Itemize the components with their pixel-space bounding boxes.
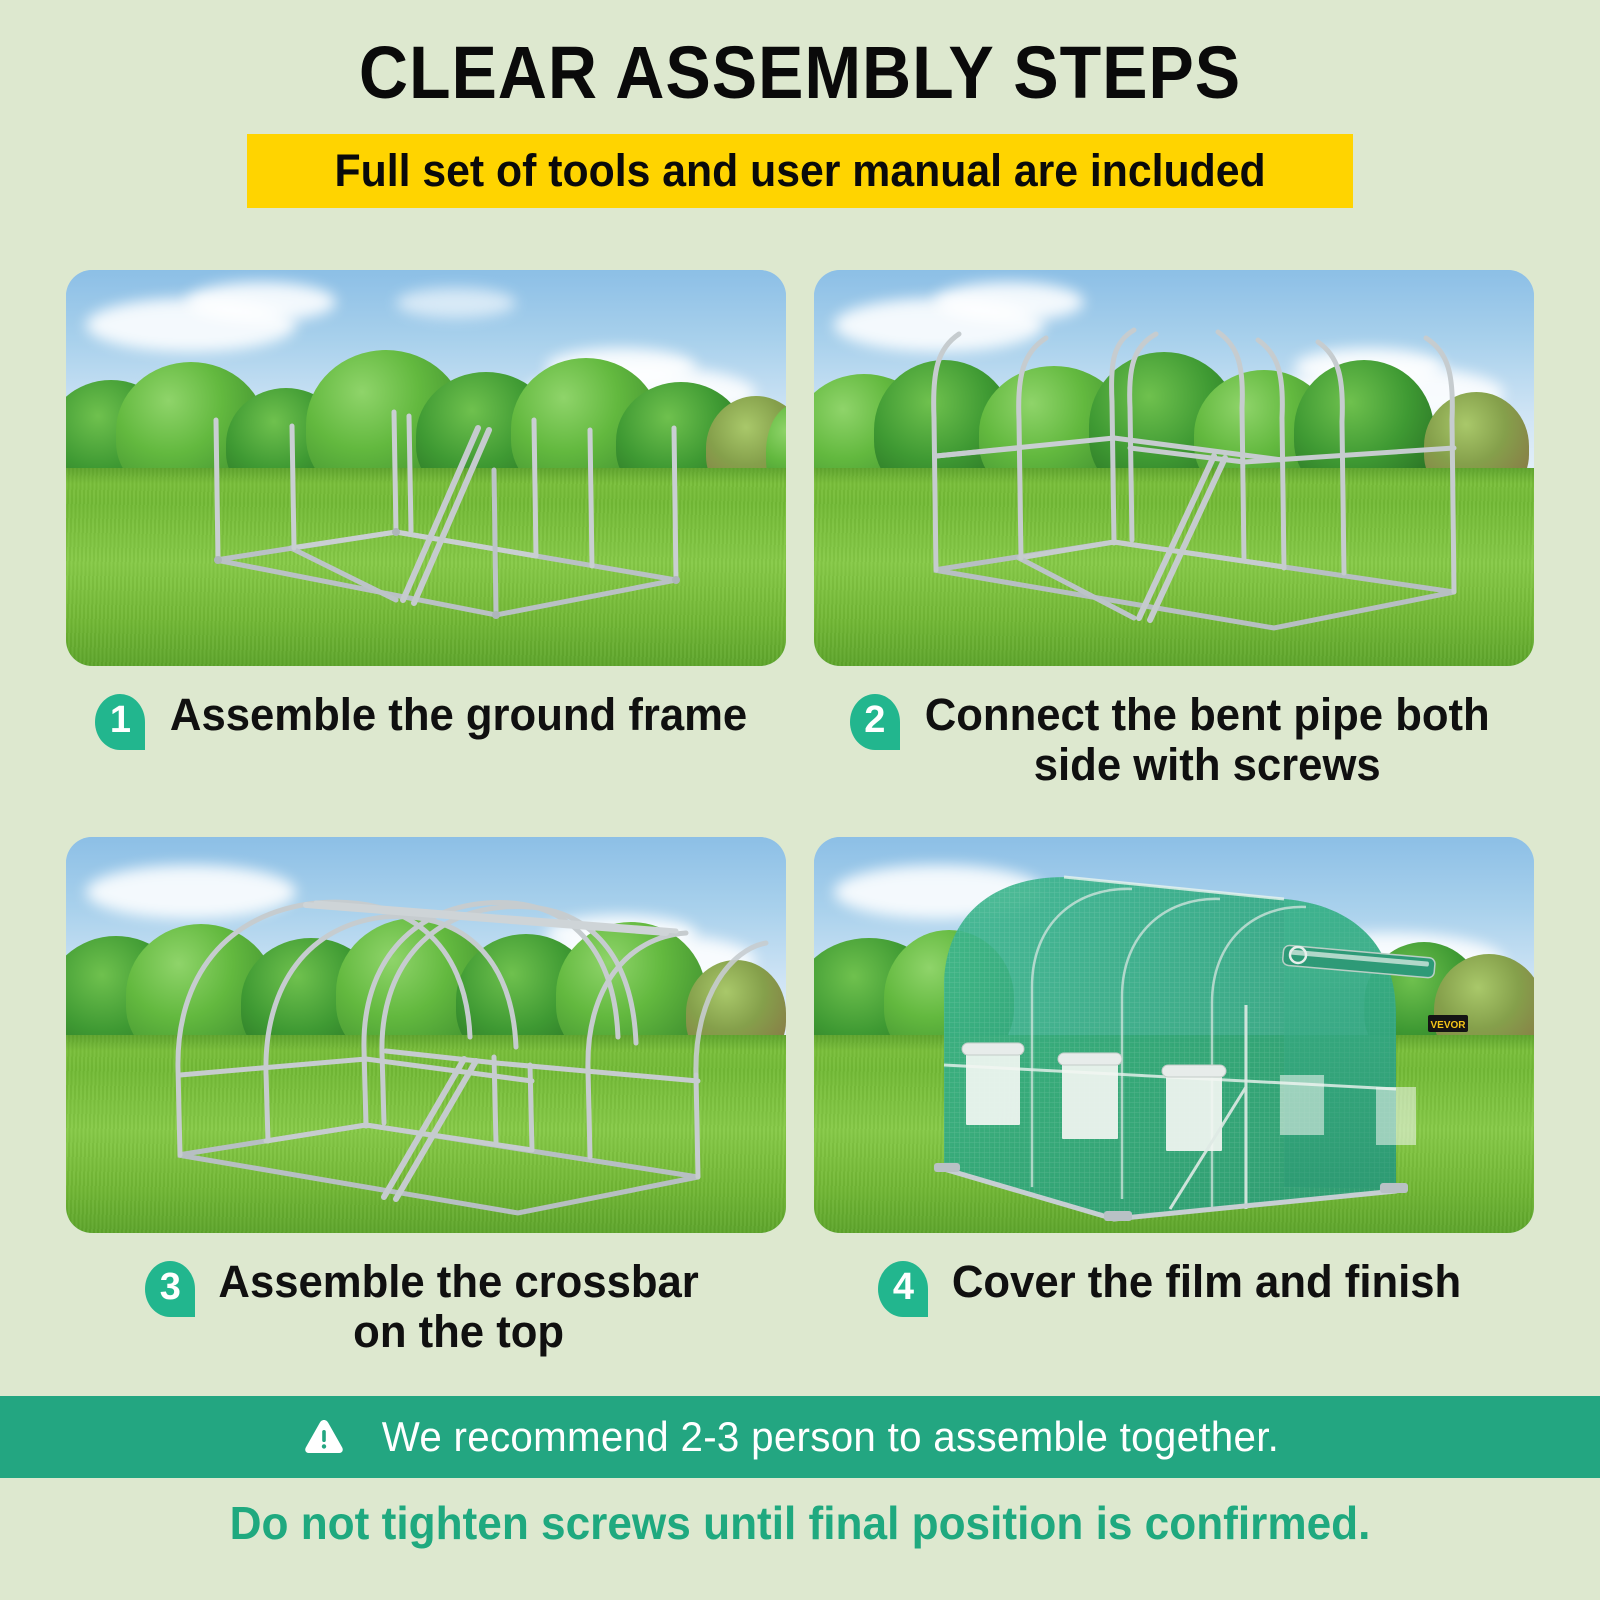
step-badge-3: 3 bbox=[145, 1261, 195, 1317]
recommendation-band: We recommend 2-3 person to assemble toge… bbox=[0, 1396, 1600, 1478]
warning-triangle-icon bbox=[303, 1417, 345, 1457]
crossbar-frame-illustration bbox=[66, 837, 786, 1233]
step-2-caption: 2 Connect the bent pipe both side with s… bbox=[814, 690, 1534, 791]
highlight-banner-text: Full set of tools and user manual are in… bbox=[334, 145, 1265, 197]
step-3-photo bbox=[66, 837, 786, 1233]
step-cell-4: VEVOR 4 Cover the film and finish bbox=[814, 837, 1534, 1358]
step-4-caption: 4 Cover the film and finish bbox=[814, 1257, 1534, 1317]
page-title: CLEAR ASSEMBLY STEPS bbox=[64, 36, 1536, 110]
step-1-caption: 1 Assemble the ground frame bbox=[66, 690, 786, 750]
highlight-banner: Full set of tools and user manual are in… bbox=[247, 134, 1353, 208]
step-1-label: Assemble the ground frame bbox=[170, 690, 747, 740]
step-row-top: 1 Assemble the ground frame bbox=[66, 270, 1534, 791]
step-4-label: Cover the film and finish bbox=[952, 1257, 1461, 1307]
final-note-text: Do not tighten screws until final positi… bbox=[32, 1496, 1568, 1550]
step-2-label: Connect the bent pipe both side with scr… bbox=[925, 690, 1490, 791]
step-badge-1: 1 bbox=[95, 694, 145, 750]
step-3-caption: 3 Assemble the crossbar on the top bbox=[66, 1257, 786, 1358]
svg-text:VEVOR: VEVOR bbox=[1430, 1020, 1466, 1031]
bent-pipe-illustration bbox=[814, 270, 1534, 666]
recommendation-text: We recommend 2-3 person to assemble toge… bbox=[381, 1413, 1278, 1461]
step-badge-2: 2 bbox=[850, 694, 900, 750]
assembly-steps-grid: 1 Assemble the ground frame bbox=[66, 270, 1534, 1358]
step-1-photo bbox=[66, 270, 786, 666]
step-2-photo bbox=[814, 270, 1534, 666]
header: CLEAR ASSEMBLY STEPS Full set of tools a… bbox=[0, 0, 1600, 208]
step-badge-4: 4 bbox=[878, 1261, 928, 1317]
step-cell-3: 3 Assemble the crossbar on the top bbox=[66, 837, 786, 1358]
step-cell-2: 2 Connect the bent pipe both side with s… bbox=[814, 270, 1534, 791]
step-3-label: Assemble the crossbar on the top bbox=[219, 1257, 699, 1358]
step-row-bottom: 3 Assemble the crossbar on the top bbox=[66, 837, 1534, 1358]
step-cell-1: 1 Assemble the ground frame bbox=[66, 270, 786, 791]
step-4-photo: VEVOR bbox=[814, 837, 1534, 1233]
ground-frame-illustration bbox=[66, 270, 786, 666]
vevor-brand-patch: VEVOR bbox=[1428, 1015, 1468, 1032]
finished-greenhouse-illustration: VEVOR bbox=[814, 837, 1534, 1233]
